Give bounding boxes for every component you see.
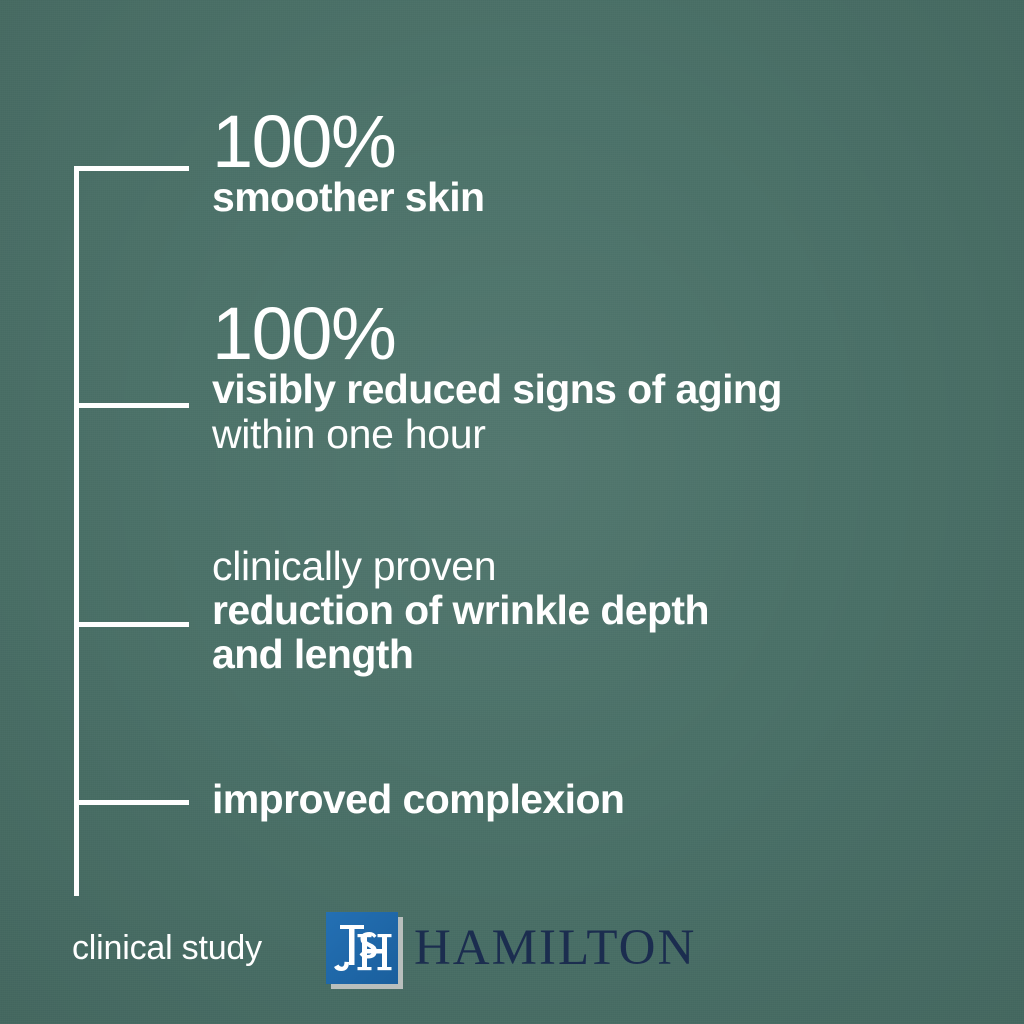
poster-canvas: 100% smoother skin 100% visibly reduced … bbox=[0, 0, 1024, 1024]
hamilton-wordmark: HAMILTON bbox=[414, 923, 696, 974]
logo-square bbox=[326, 912, 398, 984]
claim-2-subline: within one hour bbox=[212, 412, 782, 457]
bracket-tick-1 bbox=[74, 166, 189, 171]
bracket-tick-3 bbox=[74, 622, 189, 627]
claim-2-headline: visibly reduced signs of aging bbox=[212, 368, 782, 411]
claim-block-2: 100% visibly reduced signs of aging with… bbox=[212, 300, 782, 457]
bracket-tick-2 bbox=[74, 403, 189, 408]
claim-3-caption: clinically proven bbox=[212, 544, 709, 589]
bracket-vertical-line bbox=[74, 166, 79, 896]
claim-4-headline: improved complexion bbox=[212, 778, 624, 821]
claim-block-4: improved complexion bbox=[212, 778, 624, 821]
claim-3-headline: reduction of wrinkle depth bbox=[212, 589, 709, 632]
claim-1-stat: 100% bbox=[212, 108, 484, 176]
claim-2-stat: 100% bbox=[212, 300, 782, 368]
claim-block-3: clinically proven reduction of wrinkle d… bbox=[212, 544, 709, 676]
hamilton-logo: HAMILTON bbox=[326, 912, 696, 984]
footer: clinical study bbox=[72, 912, 696, 984]
claim-block-1: 100% smoother skin bbox=[212, 108, 484, 220]
claim-3-headline-line2: and length bbox=[212, 633, 709, 676]
vignette-overlay bbox=[0, 0, 1024, 1024]
clinical-study-label: clinical study bbox=[72, 931, 262, 965]
jsh-monogram-glyphs bbox=[326, 912, 398, 984]
bracket-tick-4 bbox=[74, 800, 189, 805]
jsh-monogram-icon bbox=[326, 912, 398, 984]
paper-texture-overlay bbox=[0, 0, 1024, 1024]
claim-1-headline: smoother skin bbox=[212, 176, 484, 219]
